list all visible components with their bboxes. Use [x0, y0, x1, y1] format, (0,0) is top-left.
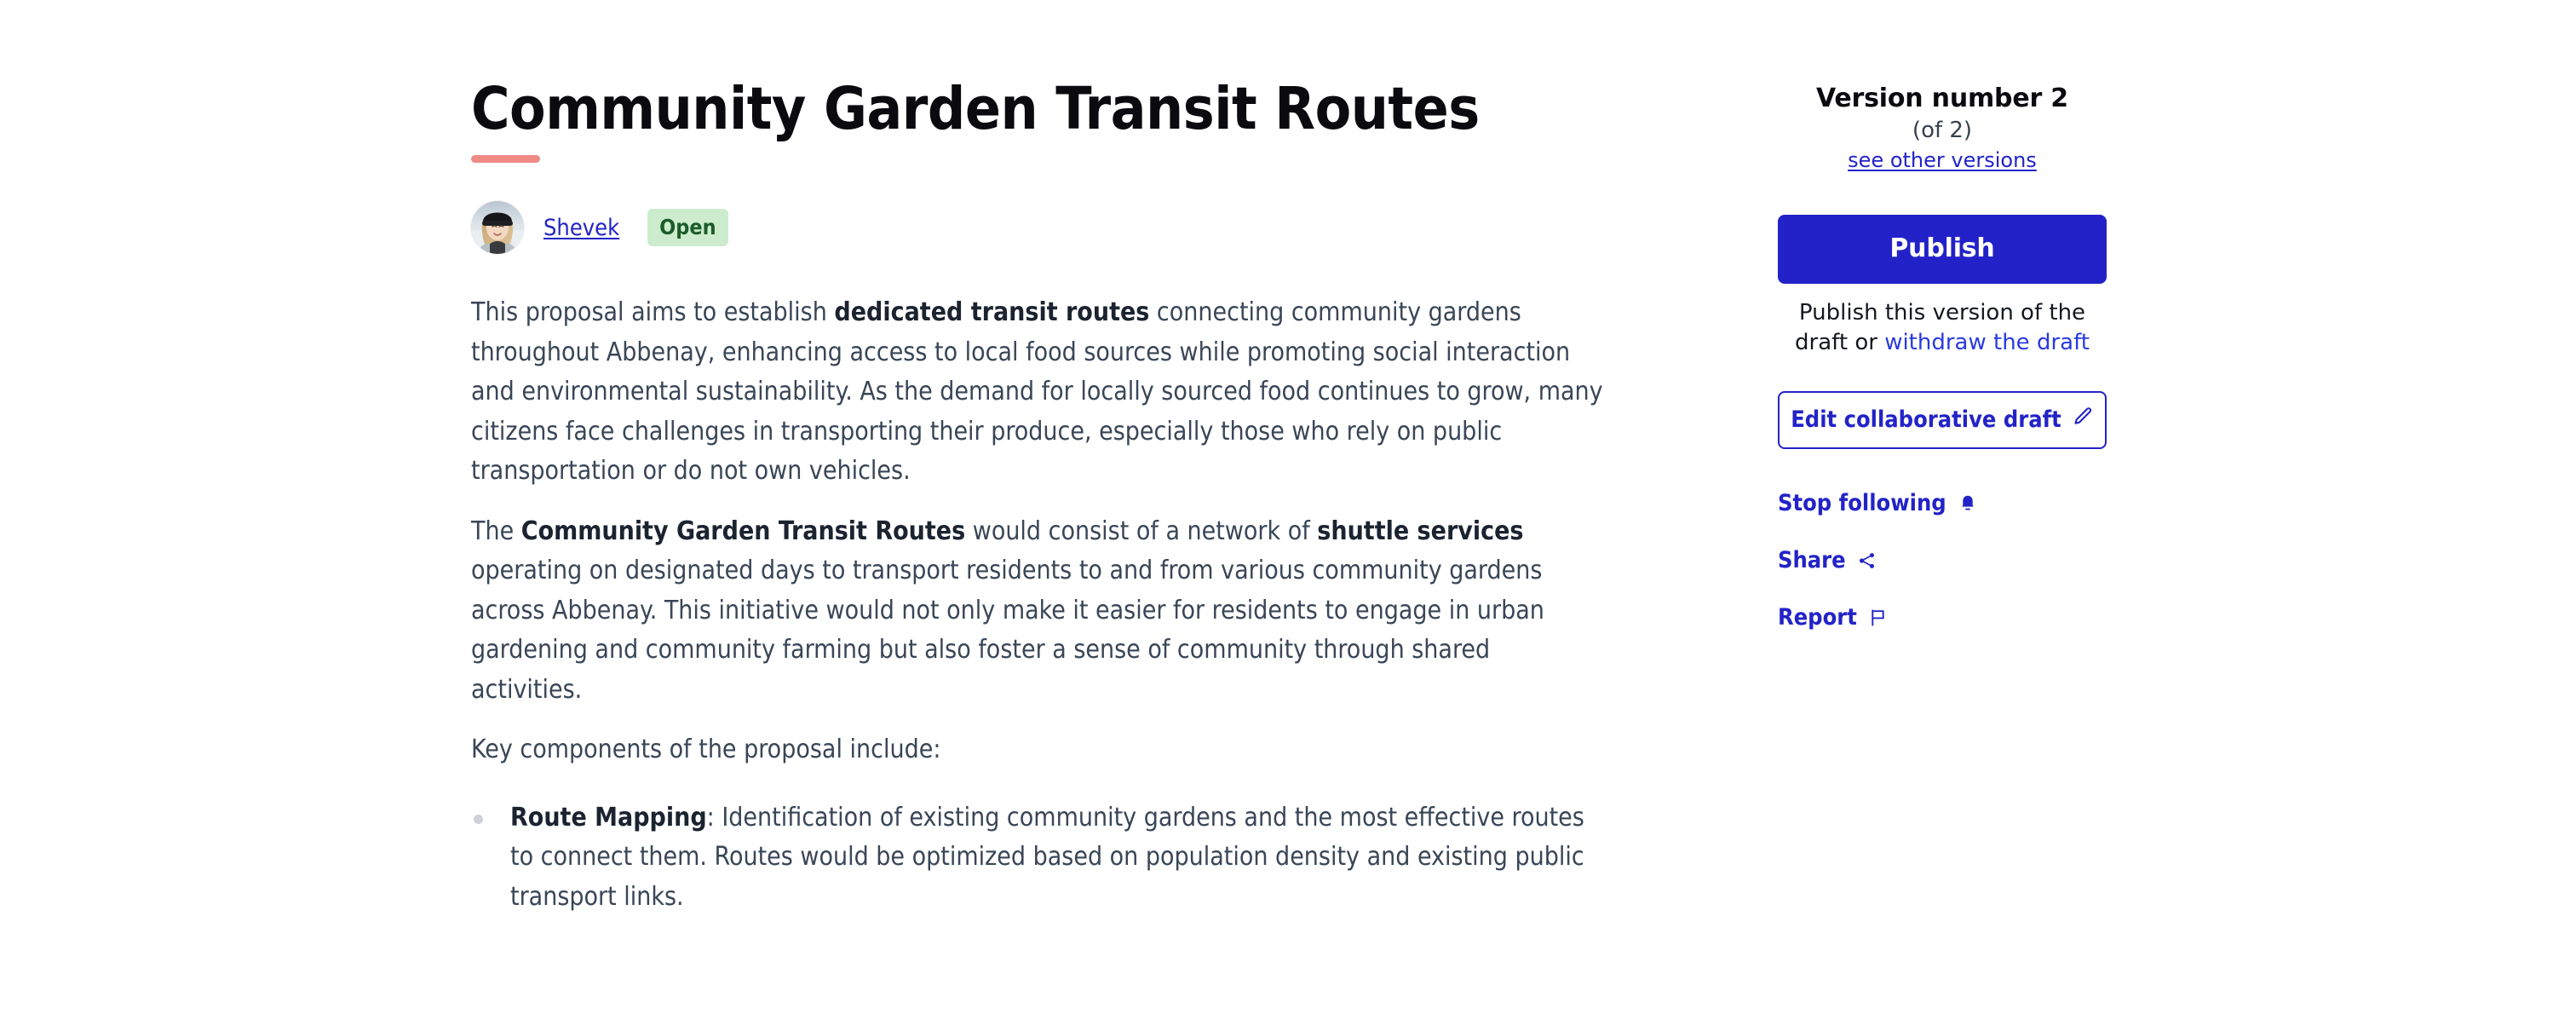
edit-draft-label: Edit collaborative draft	[1791, 406, 2061, 433]
share-icon	[1857, 550, 1877, 571]
main-content-column: Community Garden Transit Routes	[471, 0, 1604, 936]
p2-bold-2: shuttle services	[1317, 516, 1523, 546]
proposal-page: Community Garden Transit Routes	[0, 0, 2576, 1014]
p1-bold-1: dedicated transit routes	[834, 297, 1149, 327]
author-row: Shevek Open	[471, 201, 1604, 254]
p1-text-1: This proposal aims to establish	[471, 297, 834, 327]
list-item-term: Route Mapping	[510, 803, 707, 833]
proposal-body: This proposal aims to establish dedicate…	[471, 293, 1604, 917]
p2-bold-1: Community Garden Transit Routes	[521, 516, 965, 546]
avatar[interactable]	[471, 201, 524, 254]
p2-text-3: operating on designated days to transpor…	[471, 556, 1544, 705]
sidebar: Version number 2 (of 2) see other versio…	[1778, 0, 2107, 631]
publish-help-text: Publish this version of the draft or wit…	[1778, 298, 2107, 357]
withdraw-draft-link[interactable]: withdraw the draft	[1884, 330, 2090, 355]
paragraph-3: Key components of the proposal include:	[471, 730, 1604, 770]
version-count-subtitle: (of 2)	[1778, 118, 2107, 144]
title-accent-underline	[471, 155, 540, 163]
bell-icon	[1958, 493, 1978, 514]
p2-text-1: The	[471, 516, 521, 546]
stop-following-link[interactable]: Stop following	[1778, 490, 1978, 516]
page-title: Community Garden Transit Routes	[471, 0, 1604, 141]
key-components-list: Route Mapping: Identification of existin…	[471, 798, 1604, 918]
share-label: Share	[1778, 547, 1846, 573]
paragraph-2: The Community Garden Transit Routes woul…	[471, 512, 1604, 711]
author-name-link[interactable]: Shevek	[543, 215, 619, 241]
report-link[interactable]: Report	[1778, 604, 1889, 631]
stop-following-label: Stop following	[1778, 490, 1946, 516]
share-link[interactable]: Share	[1778, 547, 1877, 573]
sidebar-action-links: Stop following Share	[1778, 490, 2107, 631]
p2-text-2: would consist of a network of	[965, 516, 1317, 546]
version-number-title: Version number 2	[1778, 84, 2107, 113]
edit-collaborative-draft-button[interactable]: Edit collaborative draft	[1778, 391, 2107, 449]
flag-icon	[1868, 608, 1889, 628]
list-item: Route Mapping: Identification of existin…	[471, 798, 1604, 918]
status-badge: Open	[647, 209, 728, 246]
paragraph-1: This proposal aims to establish dedicate…	[471, 293, 1604, 492]
see-other-versions-link[interactable]: see other versions	[1778, 148, 2107, 172]
report-label: Report	[1778, 604, 1857, 631]
publish-button[interactable]: Publish	[1778, 215, 2107, 284]
pencil-icon	[2072, 406, 2094, 434]
